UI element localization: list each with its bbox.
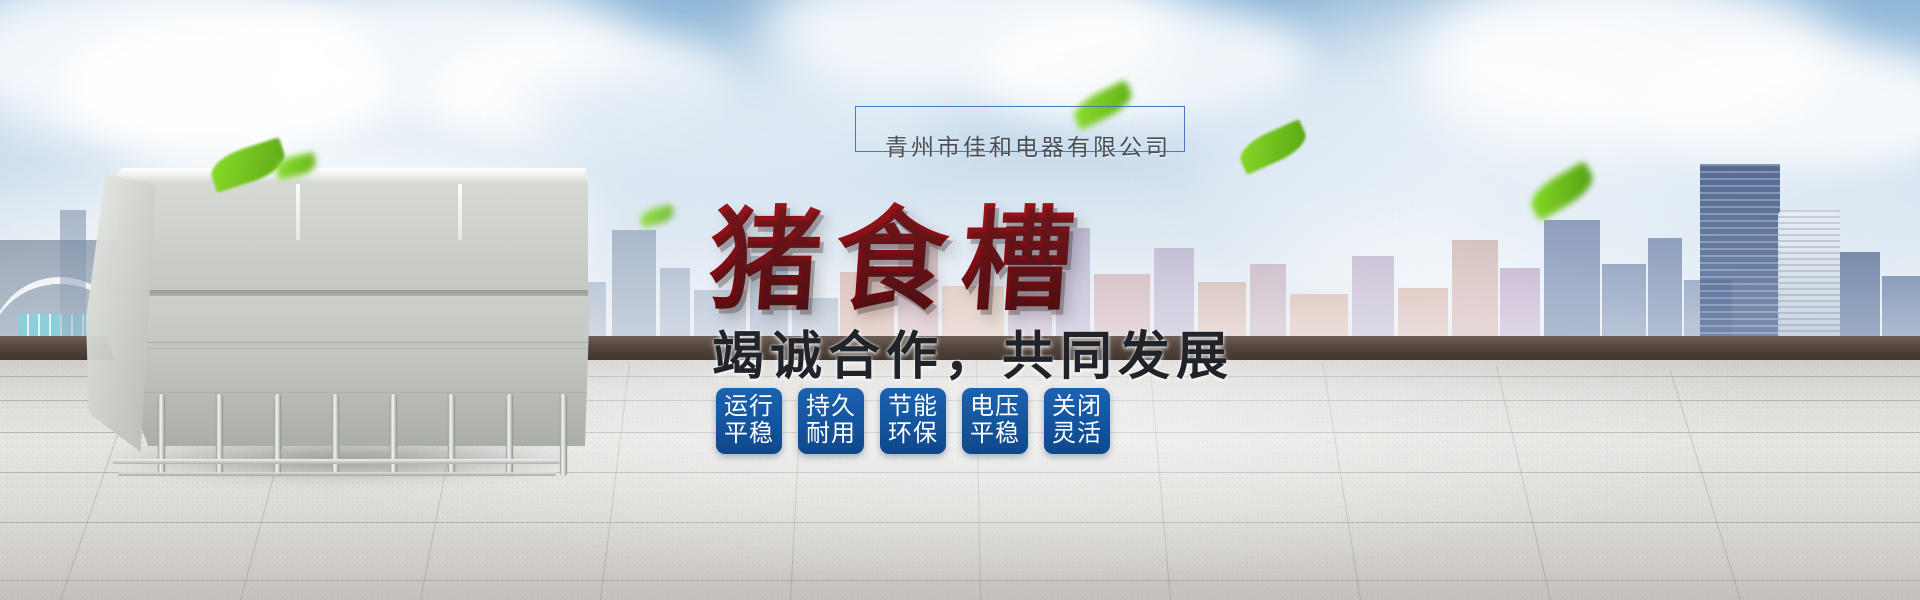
feature-badge-line1: 关闭: [1052, 394, 1102, 421]
tower-windows: [1700, 164, 1780, 360]
product-image-pig-feed-trough: [78, 168, 598, 478]
feature-badge-line2: 耐用: [806, 421, 856, 448]
feature-badge[interactable]: 节能 环保: [880, 388, 946, 454]
feature-badge[interactable]: 电压 平稳: [962, 388, 1028, 454]
tower-tall: [1700, 164, 1780, 360]
page-title: 猪食槽: [704, 170, 1415, 332]
feature-badge-line1: 运行: [724, 394, 774, 421]
feature-badge[interactable]: 关闭 灵活: [1044, 388, 1110, 454]
feature-badge-line2: 环保: [888, 421, 938, 448]
feature-badge[interactable]: 持久 耐用: [798, 388, 864, 454]
feature-badge-line2: 平稳: [970, 421, 1020, 448]
feature-badge[interactable]: 运行 平稳: [716, 388, 782, 454]
feature-badge-list: 运行 平稳 持久 耐用 节能 环保 电压 平稳 关闭 灵活: [716, 388, 1110, 454]
feature-badge-line2: 平稳: [724, 421, 774, 448]
trough-cross-bar: [112, 459, 560, 464]
feature-badge-line1: 电压: [970, 394, 1020, 421]
trough-back-wall: [96, 182, 588, 300]
trough-cross-bar-lower: [118, 472, 556, 476]
promo-banner: 青州市佳和电器有限公司 猪食槽 竭诚合作，共同发展 运行 平稳 持久 耐用 节能…: [0, 0, 1920, 600]
feature-badge-line1: 节能: [888, 394, 938, 421]
feature-badge-line2: 灵活: [1052, 421, 1102, 448]
headline-copy-block: 青州市佳和电器有限公司 猪食槽 竭诚合作，共同发展 运行 平稳 持久 耐用 节能…: [700, 92, 1420, 552]
feature-badge-line1: 持久: [806, 394, 856, 421]
subtitle: 竭诚合作，共同发展: [712, 314, 1412, 389]
company-name: 青州市佳和电器有限公司: [885, 128, 1265, 162]
